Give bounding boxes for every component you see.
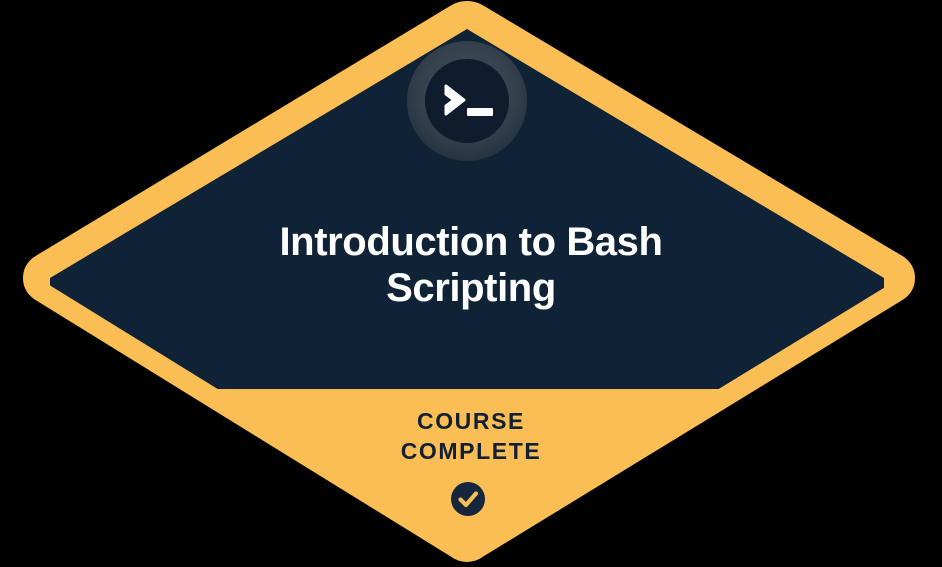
course-completion-badge: Introduction to Bash Scripting COURSE CO…: [0, 0, 942, 567]
terminal-prompt-icon: [407, 41, 527, 161]
badge-diamond-shape: [0, 0, 942, 567]
check-circle: [451, 482, 485, 516]
icon-inner-disc: [425, 59, 509, 143]
icon-underscore-glyph: [467, 108, 493, 116]
check-mark-icon: [451, 482, 485, 516]
